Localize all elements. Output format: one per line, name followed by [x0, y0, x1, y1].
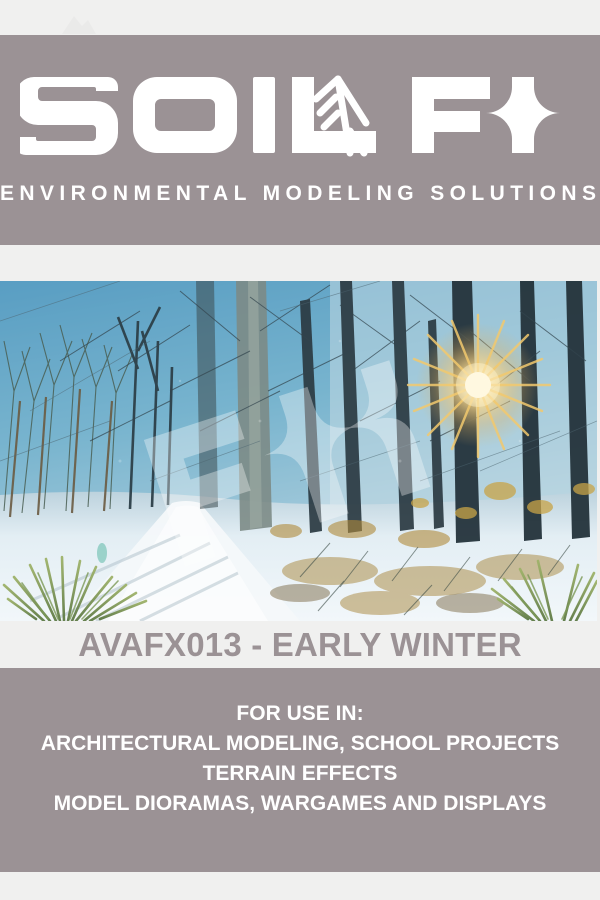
usage-line-3: MODEL DIORAMAS, WARGAMES AND DISPLAYS	[54, 789, 547, 819]
usage-heading: FOR USE IN:	[236, 699, 363, 729]
product-title: AVAFX013 - EARLY WINTER	[78, 628, 521, 661]
usage-line-2: TERRAIN EFFECTS	[203, 759, 398, 789]
usage-information-block: FOR USE IN: ARCHITECTURAL MODELING, SCHO…	[0, 668, 600, 872]
winter-forest-scene	[0, 281, 597, 621]
product-photo	[0, 281, 597, 621]
brand-tagline: ENVIRONMENTAL MODELING SOLUTIONS	[0, 183, 600, 204]
faint-peak-artifact-icon	[58, 10, 98, 36]
soilfx-logo	[20, 57, 580, 169]
product-title-band: AVAFX013 - EARLY WINTER	[0, 621, 600, 668]
usage-line-1: ARCHITECTURAL MODELING, SCHOOL PROJECTS	[41, 729, 559, 759]
brand-header-band: ENVIRONMENTAL MODELING SOLUTIONS	[0, 35, 600, 245]
product-label-page: ENVIRONMENTAL MODELING SOLUTIONS	[0, 0, 600, 900]
